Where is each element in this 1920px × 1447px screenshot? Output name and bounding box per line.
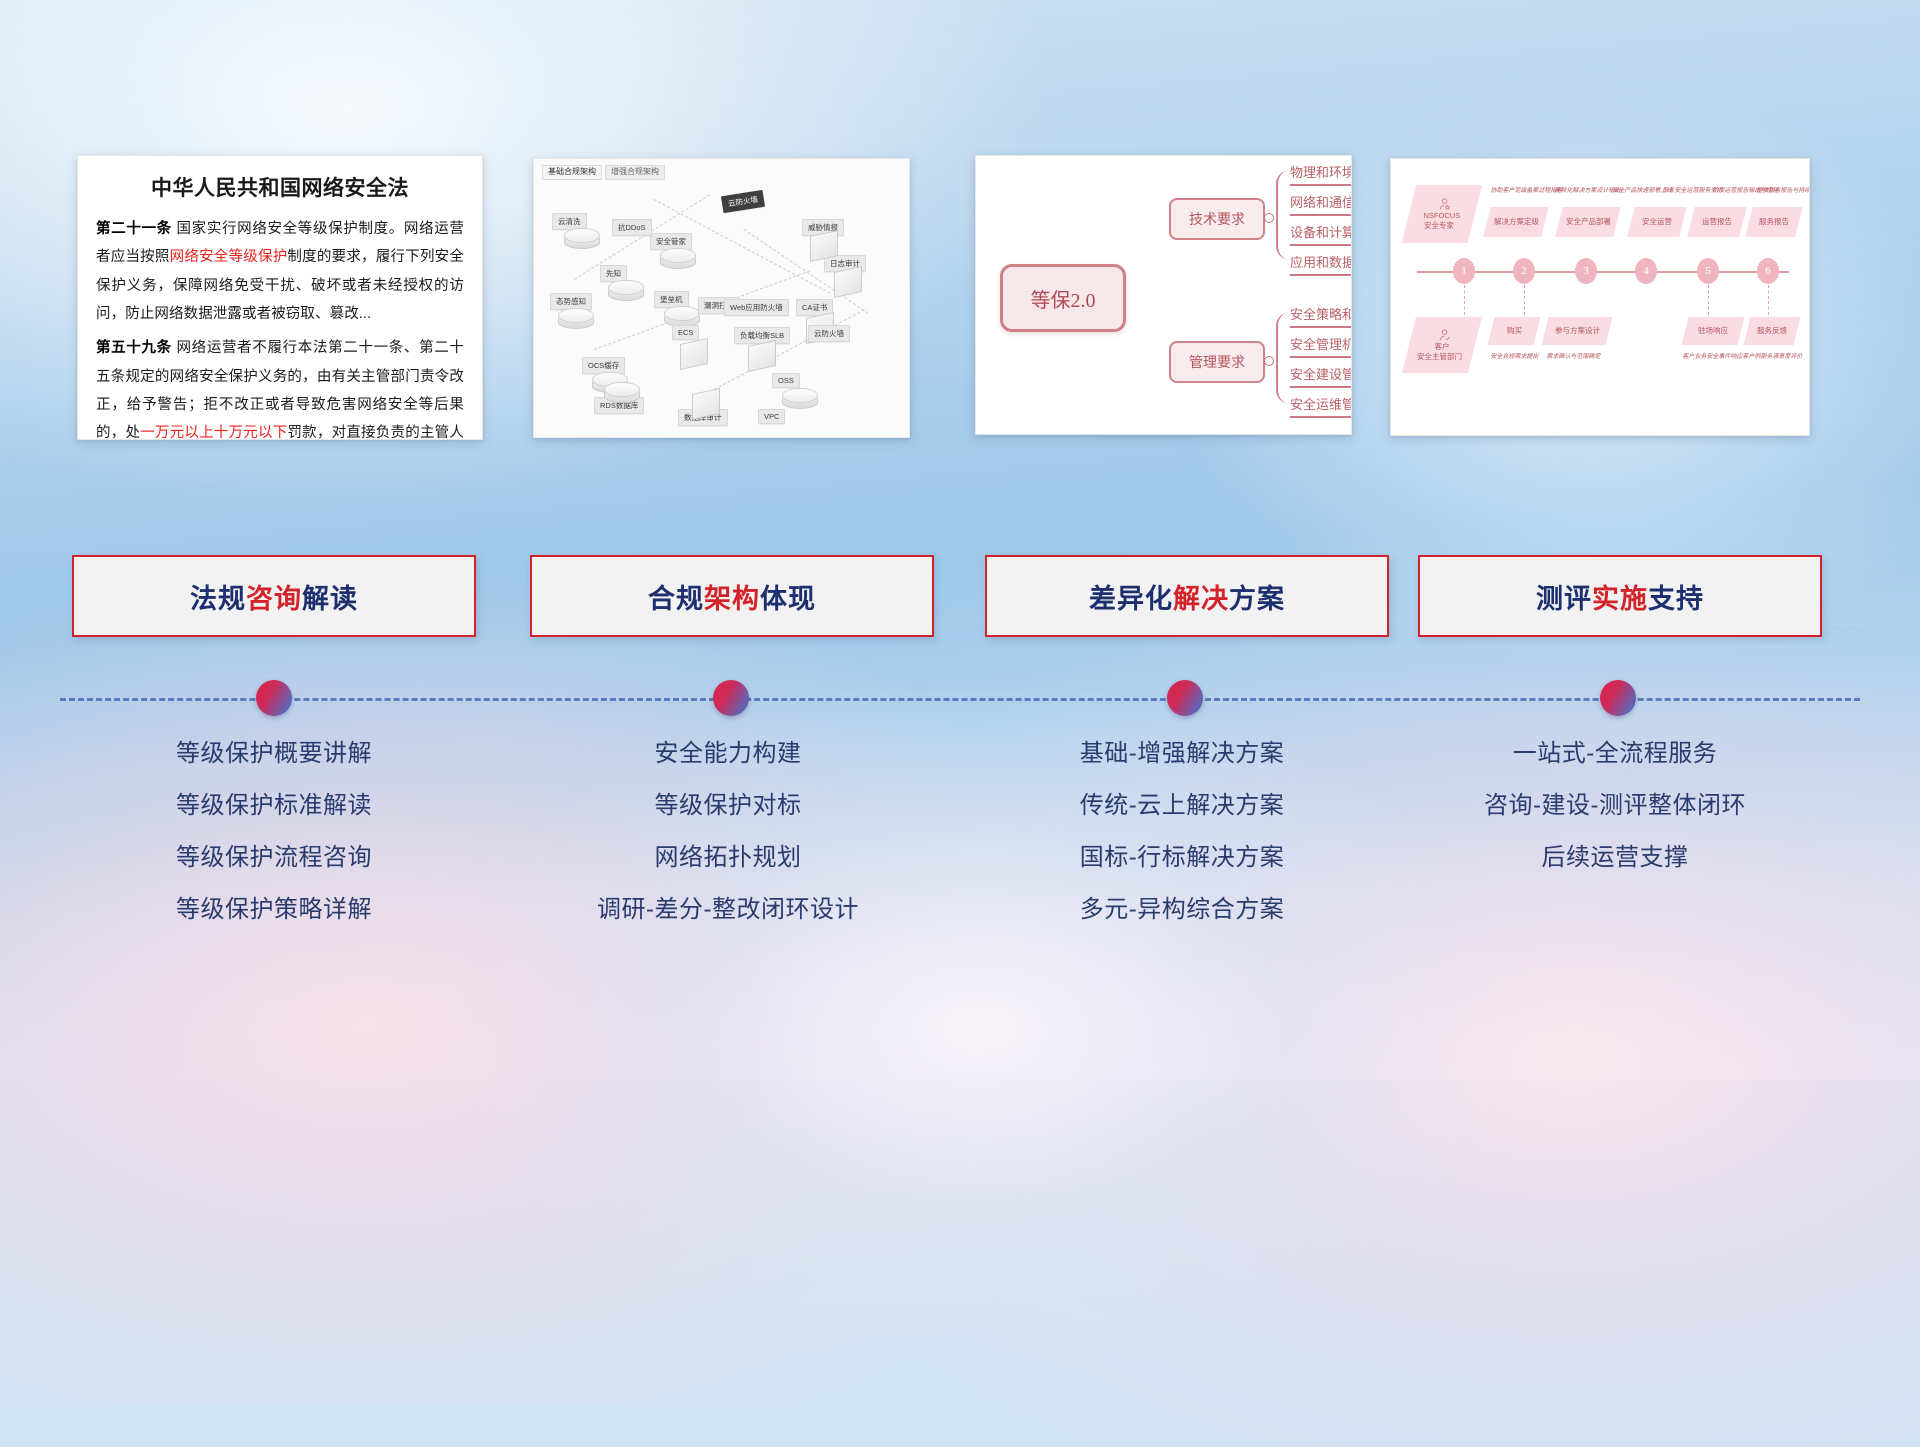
nsfocus-stage-label: 解决方案定级 — [1494, 217, 1539, 227]
mindmap-collapse-dot-technical[interactable] — [1264, 213, 1274, 223]
architecture-node-vpc: VPC — [758, 409, 785, 424]
timeline-marker-2[interactable] — [713, 680, 749, 716]
list-item: 多元-异构综合方案 — [972, 898, 1392, 922]
list-item: 等级保护标准解读 — [64, 794, 484, 818]
plaque-text: 法规咨询解读 — [190, 577, 358, 616]
architecture-node-ecs: ECS — [672, 325, 699, 340]
nsfocus-bottom-note-2: 需求确认与范围确定 — [1546, 351, 1602, 360]
nsfocus-stage-product-deploy: 安全产品部署 — [1555, 207, 1620, 237]
nsfocus-stage-ops-report: 运营报告 — [1687, 207, 1746, 237]
list-item: 安全能力构建 — [518, 742, 938, 766]
list-item: 等级保护策略详解 — [64, 898, 484, 922]
image-card-mindmap-dengbao[interactable]: 等保2.0 技术要求 物理和环境安全 网络和通信安全 设备和计算安全 应用和数据… — [975, 155, 1352, 435]
mindmap-leaf-org-personnel: 安全管理机构和人员 — [1290, 334, 1352, 358]
nsfocus-customer-stage-service-feedback: 服务反馈 — [1744, 317, 1801, 345]
plaque-3-red: 实施 — [1592, 584, 1648, 614]
architecture-icon-cylinder — [564, 227, 598, 249]
mindmap-leaf-device-compute: 设备和计算安全 — [1290, 222, 1352, 246]
architecture-icon-cylinder — [660, 247, 694, 269]
nsfocus-customer-label-line2: 安全主管部门 — [1416, 352, 1461, 362]
nsfocus-stage-label: 服务报告 — [1759, 217, 1789, 227]
nsfocus-node-3: 3 — [1575, 258, 1597, 284]
timeline-dashed-line — [60, 698, 1860, 701]
nsfocus-node-4: 4 — [1635, 258, 1657, 284]
nsfocus-stage-service-report: 服务报告 — [1745, 207, 1802, 237]
nsfocus-node-1: 1 — [1453, 258, 1475, 284]
expert-person-icon — [1438, 197, 1452, 211]
customer-person-icon — [1438, 328, 1452, 342]
list-item: 传统-云上解决方案 — [972, 794, 1392, 818]
detail-list-assessment-support: 一站式-全流程服务 咨询-建设-测评整体闭环 后续运营支撑 — [1405, 742, 1825, 898]
mindmap-collapse-dot-management[interactable] — [1264, 356, 1274, 366]
section-header-assessment-support[interactable]: 测评实施支持 — [1418, 555, 1822, 637]
mindmap-branch-technical: 技术要求 — [1169, 198, 1265, 240]
law-article-21: 第二十一条 国家实行网络安全等级保护制度。网络运营者应当按照网络安全等级保护制度… — [96, 215, 464, 328]
nsfocus-stage-solution-design: 解决方案定级 — [1483, 207, 1548, 237]
law-article-21-label: 第二十一条 — [96, 221, 172, 237]
architecture-node-cloud-firewall: 云防火墙 — [721, 190, 765, 213]
nsfocus-leader-line — [1524, 285, 1525, 315]
mindmap-branch-management: 管理要求 — [1169, 341, 1265, 383]
nsfocus-stage-label: 安全运营 — [1642, 217, 1672, 227]
nsfocus-expert-lane-tag: NSFOCUS 安全专家 — [1402, 185, 1482, 243]
plaque-2-red: 解决 — [1173, 584, 1229, 614]
list-item: 基础-增强解决方案 — [972, 742, 1392, 766]
mindmap-root-node: 等保2.0 — [1000, 264, 1126, 332]
architecture-icon-cylinder — [604, 381, 638, 403]
architecture-tab-basic[interactable]: 基础合规架构 — [542, 165, 602, 180]
law-article-59-highlight-1: 一万元以上十万元以下 — [140, 425, 287, 440]
plaque-2-blue-b: 方案 — [1229, 584, 1285, 614]
architecture-icon-cylinder — [558, 307, 592, 329]
architecture-node-anti-ddos: 抗DDoS — [612, 219, 652, 236]
plaque-0-red: 咨询 — [246, 584, 302, 614]
architecture-tabs[interactable]: 基础合规架构 增强合规架构 — [542, 165, 665, 180]
detail-list-differentiated-solution: 基础-增强解决方案 传统-云上解决方案 国标-行标解决方案 多元-异构综合方案 — [972, 742, 1392, 950]
mindmap-leaf-physical-env: 物理和环境安全 — [1290, 162, 1352, 186]
architecture-node-waf: Web应用防火墙 — [724, 299, 789, 316]
mindmap-leaf-network-comm: 网络和通信安全 — [1290, 192, 1352, 216]
architecture-icon-cylinder — [664, 305, 698, 327]
list-item: 国标-行标解决方案 — [972, 846, 1392, 870]
list-item: 后续运营支撑 — [1405, 846, 1825, 870]
detail-list-regulation-consulting: 等级保护概要讲解 等级保护标准解读 等级保护流程咨询 等级保护策略详解 — [64, 742, 484, 950]
plaque-1-red: 架构 — [704, 584, 760, 614]
architecture-node-cloud-shield: 云防火墙 — [808, 325, 850, 342]
nsfocus-stage-label: 驻场响应 — [1698, 326, 1728, 336]
law-article-59: 第五十九条 网络运营者不履行本法第二十一条、第二十五条规定的网络安全保护义务的，… — [96, 334, 464, 440]
section-header-differentiated-solution[interactable]: 差异化解决方案 — [985, 555, 1389, 637]
plaque-0-blue-b: 解读 — [302, 584, 358, 614]
nsfocus-expert-label-line1: NSFOCUS — [1423, 211, 1460, 221]
nsfocus-customer-label-line1: 客户 — [1434, 342, 1449, 352]
mindmap-leaf-construction-mgmt: 安全建设管理 — [1290, 364, 1352, 388]
image-card-cybersecurity-law[interactable]: 中华人民共和国网络安全法 第二十一条 国家实行网络安全等级保护制度。网络运营者应… — [77, 155, 483, 440]
section-header-regulation-consulting[interactable]: 法规咨询解读 — [72, 555, 476, 637]
nsfocus-node-6: 6 — [1757, 258, 1779, 284]
plaque-1-blue-b: 体现 — [760, 584, 816, 614]
section-header-compliance-architecture[interactable]: 合规架构体现 — [530, 555, 934, 637]
mindmap-leaf-policy-system: 安全策略和管理制度 — [1290, 304, 1352, 328]
architecture-icon-box — [692, 391, 720, 417]
law-article-59-label: 第五十九条 — [96, 340, 172, 356]
architecture-icon-box — [834, 269, 862, 295]
detail-list-compliance-architecture: 安全能力构建 等级保护对标 网络拓扑规划 调研-差分-整改闭环设计 — [518, 742, 938, 950]
nsfocus-top-note-6: 整体服务报告与持续改进建议 — [1756, 185, 1810, 194]
nsfocus-stage-security-ops: 安全运营 — [1627, 207, 1686, 237]
nsfocus-expert-label-line2: 安全专家 — [1424, 221, 1454, 231]
nsfocus-customer-stage-onsite-response: 驻场响应 — [1682, 317, 1745, 345]
architecture-tab-enhanced[interactable]: 增强合规架构 — [605, 165, 665, 180]
list-item: 等级保护概要讲解 — [64, 742, 484, 766]
nsfocus-bottom-note-3: 客户业务安全事件响应 — [1682, 351, 1744, 360]
nsfocus-leader-line — [1768, 285, 1769, 315]
list-item: 网络拓扑规划 — [518, 846, 938, 870]
plaque-0-blue-a: 法规 — [190, 584, 246, 614]
architecture-icon-cylinder — [782, 387, 816, 409]
nsfocus-customer-stage-purchase: 购买 — [1488, 317, 1541, 345]
plaque-2-blue-a: 差异化 — [1089, 584, 1173, 614]
mindmap-leaf-app-data: 应用和数据安全 — [1290, 252, 1352, 276]
list-item: 一站式-全流程服务 — [1405, 742, 1825, 766]
architecture-icon-box — [680, 341, 708, 367]
image-card-compliance-architecture[interactable]: 基础合规架构 增强合规架构 云防火墙 安全管家 先知 态势感知 云清洗 抗DDo… — [533, 158, 910, 438]
nsfocus-customer-stage-design-participation: 参与方案设计 — [1542, 317, 1613, 345]
nsfocus-stage-label: 参与方案设计 — [1555, 326, 1600, 336]
timeline-marker-4[interactable] — [1600, 680, 1636, 716]
plaque-3-blue-a: 测评 — [1536, 584, 1592, 614]
plaque-1-blue-a: 合规 — [648, 584, 704, 614]
list-item: 咨询-建设-测评整体闭环 — [1405, 794, 1825, 818]
architecture-icon-box — [810, 233, 838, 259]
architecture-icon-cylinder — [608, 279, 642, 301]
timeline-marker-3[interactable] — [1167, 680, 1203, 716]
timeline-marker-1[interactable] — [256, 680, 292, 716]
architecture-icon-box — [748, 343, 776, 369]
list-item: 等级保护流程咨询 — [64, 846, 484, 870]
nsfocus-leader-line — [1464, 285, 1465, 315]
nsfocus-leader-line — [1708, 285, 1709, 315]
nsfocus-customer-lane-tag: 客户 安全主管部门 — [1402, 317, 1482, 373]
mindmap-leaf-ops-mgmt: 安全运维管理 — [1290, 394, 1352, 418]
law-title: 中华人民共和国网络安全法 — [96, 176, 464, 201]
nsfocus-node-5: 5 — [1697, 258, 1719, 284]
nsfocus-node-2: 2 — [1513, 258, 1535, 284]
nsfocus-bottom-note-1: 安全合规需求提出 — [1490, 351, 1540, 360]
nsfocus-stage-label: 安全产品部署 — [1566, 217, 1611, 227]
list-item: 调研-差分-整改闭环设计 — [518, 898, 938, 922]
nsfocus-bottom-note-4: 客户侧服务满意度评价 — [1742, 351, 1804, 360]
nsfocus-stage-label: 购买 — [1507, 326, 1522, 336]
plaque-3-blue-b: 支持 — [1648, 584, 1704, 614]
image-card-nsfocus-service-flow[interactable]: NSFOCUS 安全专家 协助客户定级备案过程指导 差异化解决方案设计输出 安全… — [1390, 158, 1810, 436]
plaque-text: 差异化解决方案 — [1089, 577, 1285, 616]
law-article-21-highlight: 网络安全等级保护 — [170, 249, 288, 265]
list-item: 等级保护对标 — [518, 794, 938, 818]
plaque-text: 合规架构体现 — [648, 577, 816, 616]
architecture-node-oss: OSS — [772, 373, 800, 388]
nsfocus-stage-label: 运营报告 — [1702, 217, 1732, 227]
architecture-node-slb: 负载均衡SLB — [734, 327, 790, 344]
nsfocus-stage-label: 服务反馈 — [1757, 326, 1787, 336]
plaque-text: 测评实施支持 — [1536, 577, 1704, 616]
